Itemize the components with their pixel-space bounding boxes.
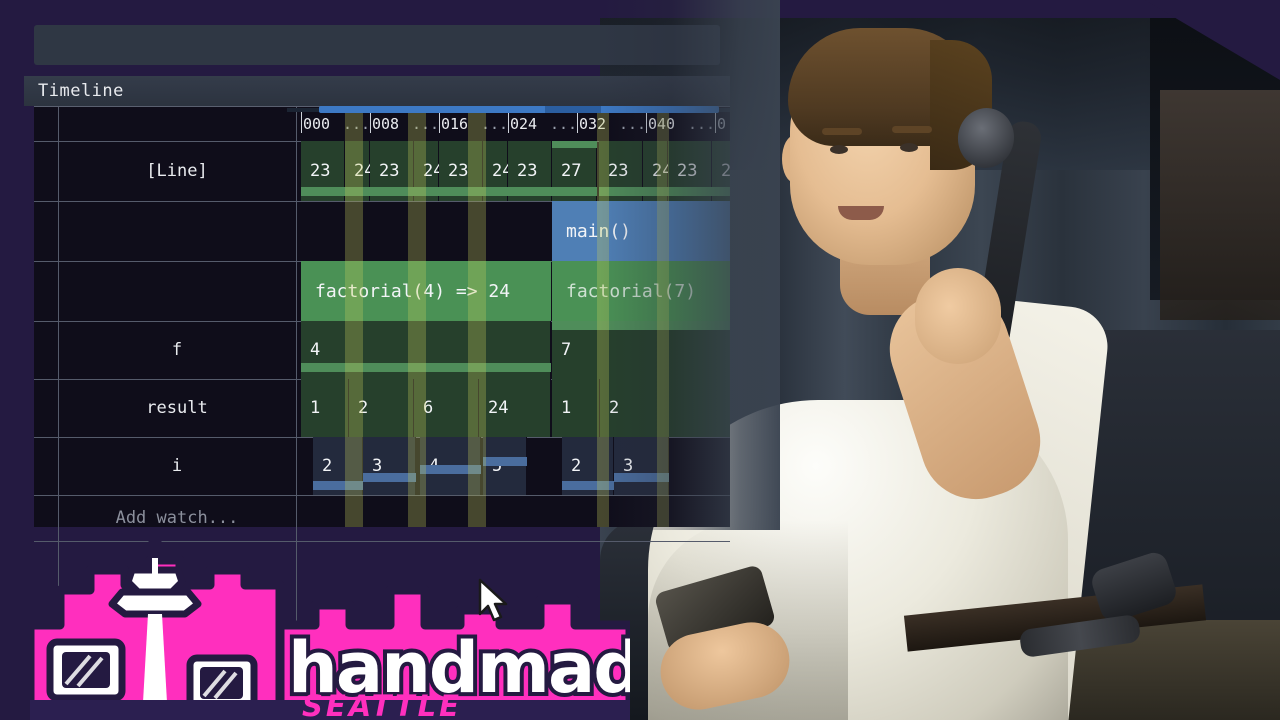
row-label-line[interactable]: [Line] [58, 141, 297, 201]
line-cell: 23 [301, 161, 330, 181]
ruler-dots-3: ... [550, 115, 577, 133]
speaker-hand-mic [915, 268, 1001, 364]
row-label-f[interactable]: f [58, 321, 297, 379]
line-row: [Line] 23 24 23 24 23 24 23 27 23 24 23 … [34, 141, 730, 202]
row-label [58, 201, 297, 261]
scrollbar-thumb[interactable] [319, 106, 719, 113]
callstack-factorial-row: factorial(4) => 24 factorial(7) [34, 261, 730, 322]
line-cell: 23 [439, 161, 468, 181]
ruler-dots-0: ... [343, 115, 370, 133]
mouse-cursor [478, 578, 512, 624]
callstack-factorial-done-label: factorial(4) => 24 [301, 281, 510, 302]
line-track[interactable]: 23 24 23 24 23 24 23 27 23 24 23 24 23 [297, 141, 730, 201]
screen-capture: Timeline 000 ... 008 ... 016 [0, 0, 1280, 720]
watch-track-result[interactable]: 1 2 6 24 1 2 [297, 379, 730, 437]
ruler-tick-1: 008 [372, 115, 399, 133]
watch-track-i[interactable]: 2 3 4 5 2 3 [297, 437, 730, 495]
callstack-main-track[interactable]: main() [297, 201, 730, 261]
speaker-eye-right [900, 143, 918, 152]
watch-row-result: result 1 2 6 24 1 2 [34, 379, 730, 438]
ruler-tick-0: 000 [303, 115, 330, 133]
row-gutter [34, 379, 59, 437]
f-cell: 7 [552, 340, 571, 360]
speaker-brow-right [892, 126, 932, 133]
row-gutter [34, 201, 59, 261]
row-gutter [34, 141, 59, 201]
result-cell: 1 [301, 398, 320, 418]
toolbar-panel[interactable] [34, 25, 720, 65]
result-cell: 1 [552, 398, 571, 418]
ruler-dots-4: ... [619, 115, 646, 133]
handmade-seattle-logo: handmade SEATTLE [30, 530, 630, 720]
row-gutter [34, 437, 59, 495]
watch-row-f: f 4 7 [34, 321, 730, 380]
row-label [58, 261, 297, 321]
ruler-tick-2: 016 [441, 115, 468, 133]
watch-row-i: i 2 3 4 5 2 3 [34, 437, 730, 496]
frame-left-bar [0, 0, 24, 720]
panel-title: Timeline [38, 81, 124, 101]
line-cell: 23 [370, 161, 399, 181]
timeline-panel-header: Timeline [24, 76, 730, 106]
ruler-dots-1: ... [412, 115, 439, 133]
row-label-result[interactable]: result [58, 379, 297, 437]
speaker-brow-left [822, 128, 862, 135]
row-gutter [34, 261, 59, 321]
line-cell: 23 [508, 161, 537, 181]
speaker-mouth [838, 206, 884, 220]
callstack-factorial-track[interactable]: factorial(4) => 24 factorial(7) [297, 261, 730, 321]
ruler-tick-5: 040 [648, 115, 675, 133]
ruler-dots-2: ... [481, 115, 508, 133]
line-cell: 23 [668, 161, 697, 181]
result-cell: 6 [414, 398, 433, 418]
debugger-window: Timeline 000 ... 008 ... 016 [24, 18, 730, 518]
result-cell: 2 [349, 398, 368, 418]
result-cell: 24 [479, 398, 508, 418]
line-cell: 24 [712, 161, 730, 181]
ruler-tick-3: 024 [510, 115, 537, 133]
frame-top-bar [0, 0, 1280, 18]
piano-silhouette [1160, 90, 1280, 320]
speaker-eye-left [830, 145, 848, 154]
callstack-main-label: main() [552, 221, 631, 242]
row-gutter [34, 321, 59, 379]
result-cell: 2 [600, 398, 619, 418]
i-cell: 2 [313, 456, 332, 476]
row-label [58, 107, 297, 141]
ruler-tick-4: 032 [579, 115, 606, 133]
i-cell: 2 [562, 456, 581, 476]
timeline-scrollbar[interactable] [287, 106, 730, 114]
ruler-dots-5: ... [688, 115, 715, 133]
line-cell: 27 [552, 161, 581, 181]
f-cell: 4 [301, 340, 320, 360]
ruler-tick-6: 0 [717, 115, 726, 133]
callstack-factorial-active-label: factorial(7) [552, 281, 696, 302]
watch-track-f[interactable]: 4 7 [297, 321, 730, 379]
logo-subtitle: SEATTLE [302, 689, 462, 720]
row-gutter [34, 107, 59, 141]
scrollbar-grip[interactable] [545, 106, 601, 113]
timeline-grid: 000 ... 008 ... 016 ... 024 ... 032 ... [34, 106, 730, 527]
row-label-i[interactable]: i [58, 437, 297, 495]
callstack-main-row: main() [34, 201, 730, 262]
line-cell: 23 [599, 161, 628, 181]
